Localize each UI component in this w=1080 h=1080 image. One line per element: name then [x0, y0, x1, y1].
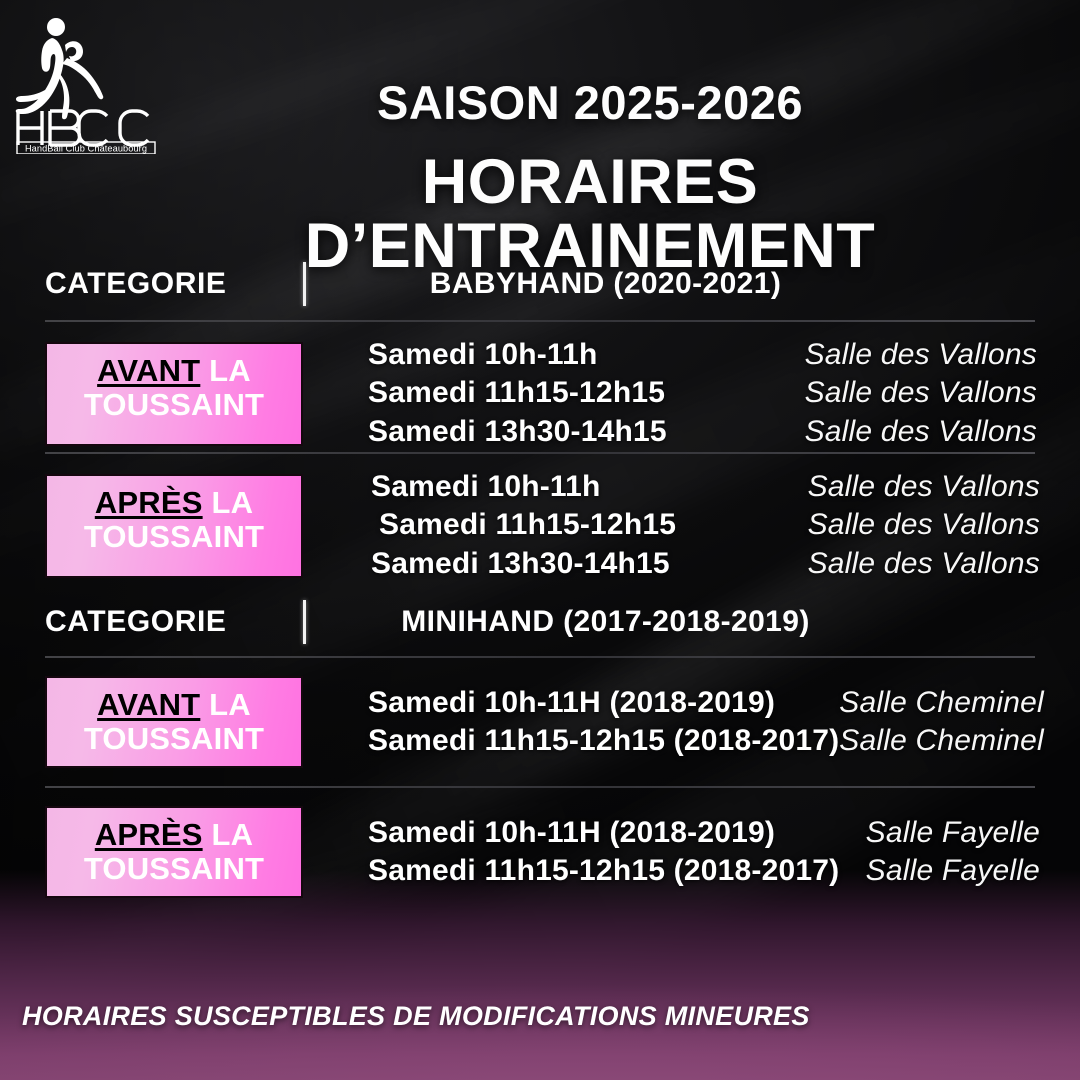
- row-separator: [45, 452, 1035, 454]
- slot-time: Samedi 10h-11H (2018-2019): [368, 684, 775, 722]
- slot-venue: Salle des Vallons: [808, 468, 1040, 506]
- slot-venue: Salle des Vallons: [805, 336, 1040, 374]
- badge-rest: LA: [203, 817, 254, 852]
- slot-list: Samedi 10h-11h Salle des Vallons Samedi …: [303, 336, 1040, 451]
- slot-time: Samedi 10h-11H (2018-2019): [368, 814, 775, 852]
- slot-time: Samedi 13h30-14h15: [368, 413, 667, 451]
- slot-venue: Salle des Vallons: [805, 413, 1040, 451]
- slot-item: Samedi 10h-11H (2018-2019) Salle Fayelle: [368, 814, 1040, 852]
- slot-venue: Salle des Vallons: [808, 506, 1040, 544]
- slot-venue: Salle Fayelle: [866, 852, 1040, 890]
- category-value: MINIHAND (2017-2018-2019): [306, 605, 1035, 639]
- slot-venue: Salle Fayelle: [866, 814, 1040, 852]
- slot-time: Samedi 11h15-12h15: [368, 374, 665, 412]
- logo-subtitle: HandBall Club Châteaubourg: [25, 143, 147, 153]
- badge-rest: LA: [200, 353, 251, 388]
- slot-item: Samedi 11h15-12h15 (2018-2017) Salle Fay…: [368, 852, 1040, 890]
- badge-emphasis: APRÈS: [95, 485, 203, 520]
- footer-note: HORAIRES SUSCEPTIBLES DE MODIFICATIONS M…: [22, 1001, 810, 1032]
- period-badge-avant: AVANT LA TOUSSAINT: [45, 342, 303, 446]
- slot-time: Samedi 10h-11h: [368, 336, 598, 374]
- badge-emphasis: AVANT: [97, 687, 200, 722]
- period-badge-avant: AVANT LA TOUSSAINT: [45, 676, 303, 768]
- season-title: SAISON 2025-2026: [160, 78, 1020, 128]
- slot-venue: Salle des Vallons: [808, 545, 1040, 583]
- slot-time: Samedi 11h15-12h15 (2018-2017): [368, 722, 839, 760]
- category-label: CATEGORIE: [45, 267, 295, 301]
- slot-time: Samedi 11h15-12h15: [371, 506, 676, 544]
- badge-emphasis: APRÈS: [95, 817, 203, 852]
- period-badge-apres: APRÈS LA TOUSSAINT: [45, 474, 303, 578]
- training-schedule-poster: HandBall Club Châteaubourg SAISON 2025-2…: [0, 0, 1080, 1080]
- club-logo: HandBall Club Châteaubourg: [8, 14, 160, 154]
- badge-line2: TOUSSAINT: [53, 388, 295, 422]
- section-separator: [45, 656, 1035, 658]
- slot-venue: Salle des Vallons: [805, 374, 1040, 412]
- slot-item: Samedi 10h-11H (2018-2019) Salle Chemine…: [368, 684, 1044, 722]
- row-separator: [45, 786, 1035, 788]
- badge-line2: TOUSSAINT: [53, 852, 295, 886]
- slot-venue: Salle Cheminel: [839, 684, 1044, 722]
- slot-list: Samedi 10h-11H (2018-2019) Salle Chemine…: [303, 684, 1044, 761]
- section-separator: [45, 320, 1035, 322]
- schedule-row: APRÈS LA TOUSSAINT Samedi 10h-11h Salle …: [45, 468, 1040, 583]
- slot-item: Samedi 11h15-12h15 Salle des Vallons: [371, 506, 1040, 544]
- badge-rest: LA: [203, 485, 254, 520]
- category-label: CATEGORIE: [45, 605, 295, 639]
- schedule-row: APRÈS LA TOUSSAINT Samedi 10h-11H (2018-…: [45, 806, 1040, 898]
- slot-venue: Salle Cheminel: [839, 722, 1044, 760]
- schedule-row: AVANT LA TOUSSAINT Samedi 10h-11H (2018-…: [45, 676, 1040, 768]
- badge-line2: TOUSSAINT: [53, 722, 295, 756]
- category-header-babyhand: CATEGORIE BABYHAND (2020-2021): [45, 252, 1035, 316]
- slot-list: Samedi 10h-11H (2018-2019) Salle Fayelle…: [303, 814, 1040, 891]
- period-badge-apres: APRÈS LA TOUSSAINT: [45, 806, 303, 898]
- slot-item: Samedi 13h30-14h15 Salle des Vallons: [371, 545, 1040, 583]
- slot-item: Samedi 10h-11h Salle des Vallons: [371, 468, 1040, 506]
- slot-item: Samedi 11h15-12h15 Salle des Vallons: [368, 374, 1040, 412]
- schedule-row: AVANT LA TOUSSAINT Samedi 10h-11h Salle …: [45, 336, 1040, 451]
- slot-item: Samedi 11h15-12h15 (2018-2017) Salle Che…: [368, 722, 1044, 760]
- badge-emphasis: AVANT: [97, 353, 200, 388]
- slot-list: Samedi 10h-11h Salle des Vallons Samedi …: [303, 468, 1040, 583]
- category-value: BABYHAND (2020-2021): [306, 267, 1035, 301]
- badge-rest: LA: [200, 687, 251, 722]
- slot-time: Samedi 10h-11h: [371, 468, 601, 506]
- slot-item: Samedi 10h-11h Salle des Vallons: [368, 336, 1040, 374]
- badge-line2: TOUSSAINT: [53, 520, 295, 554]
- slot-time: Samedi 13h30-14h15: [371, 545, 670, 583]
- category-header-minihand: CATEGORIE MINIHAND (2017-2018-2019): [45, 590, 1035, 654]
- poster-heading: SAISON 2025-2026 HORAIRES D’ENTRAINEMENT: [160, 78, 1020, 278]
- slot-item: Samedi 13h30-14h15 Salle des Vallons: [368, 413, 1040, 451]
- slot-time: Samedi 11h15-12h15 (2018-2017): [368, 852, 839, 890]
